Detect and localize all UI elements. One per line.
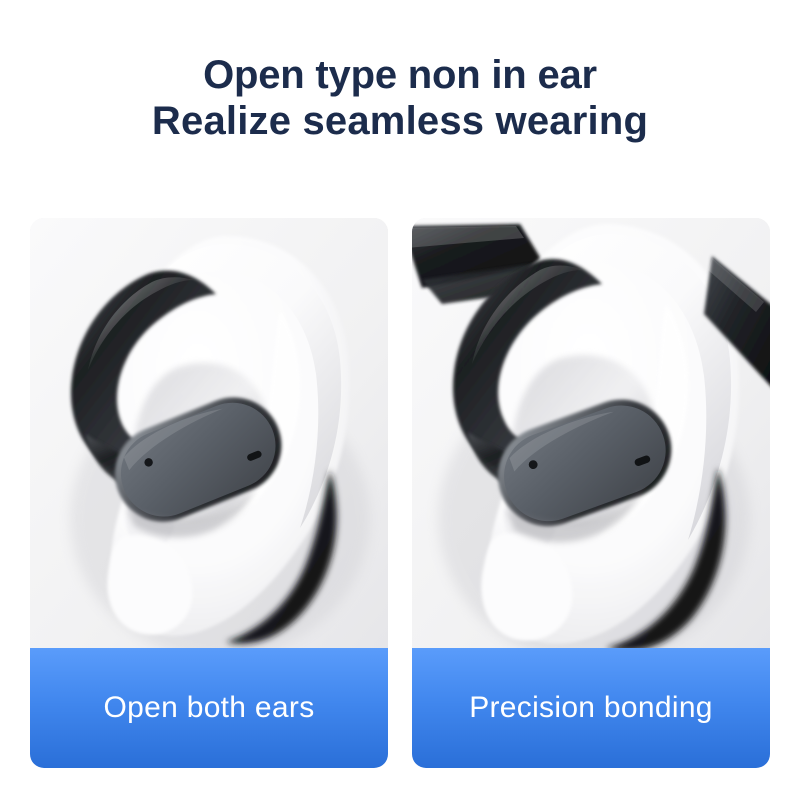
feature-card-open-both-ears[interactable]: Open both ears — [30, 218, 388, 768]
page-headline: Open type non in ear Realize seamless we… — [0, 52, 800, 144]
product-photo-precision-bonding — [412, 218, 770, 648]
headline-line-1: Open type non in ear — [0, 52, 800, 98]
card-caption-precision-bonding: Precision bonding — [412, 648, 770, 768]
product-photo-open-both-ears — [30, 218, 388, 648]
feature-card-grid: Open both ears — [30, 218, 770, 768]
headline-line-2: Realize seamless wearing — [0, 98, 800, 144]
card-caption-open-both-ears: Open both ears — [30, 648, 388, 768]
feature-card-precision-bonding[interactable]: Precision bonding — [412, 218, 770, 768]
